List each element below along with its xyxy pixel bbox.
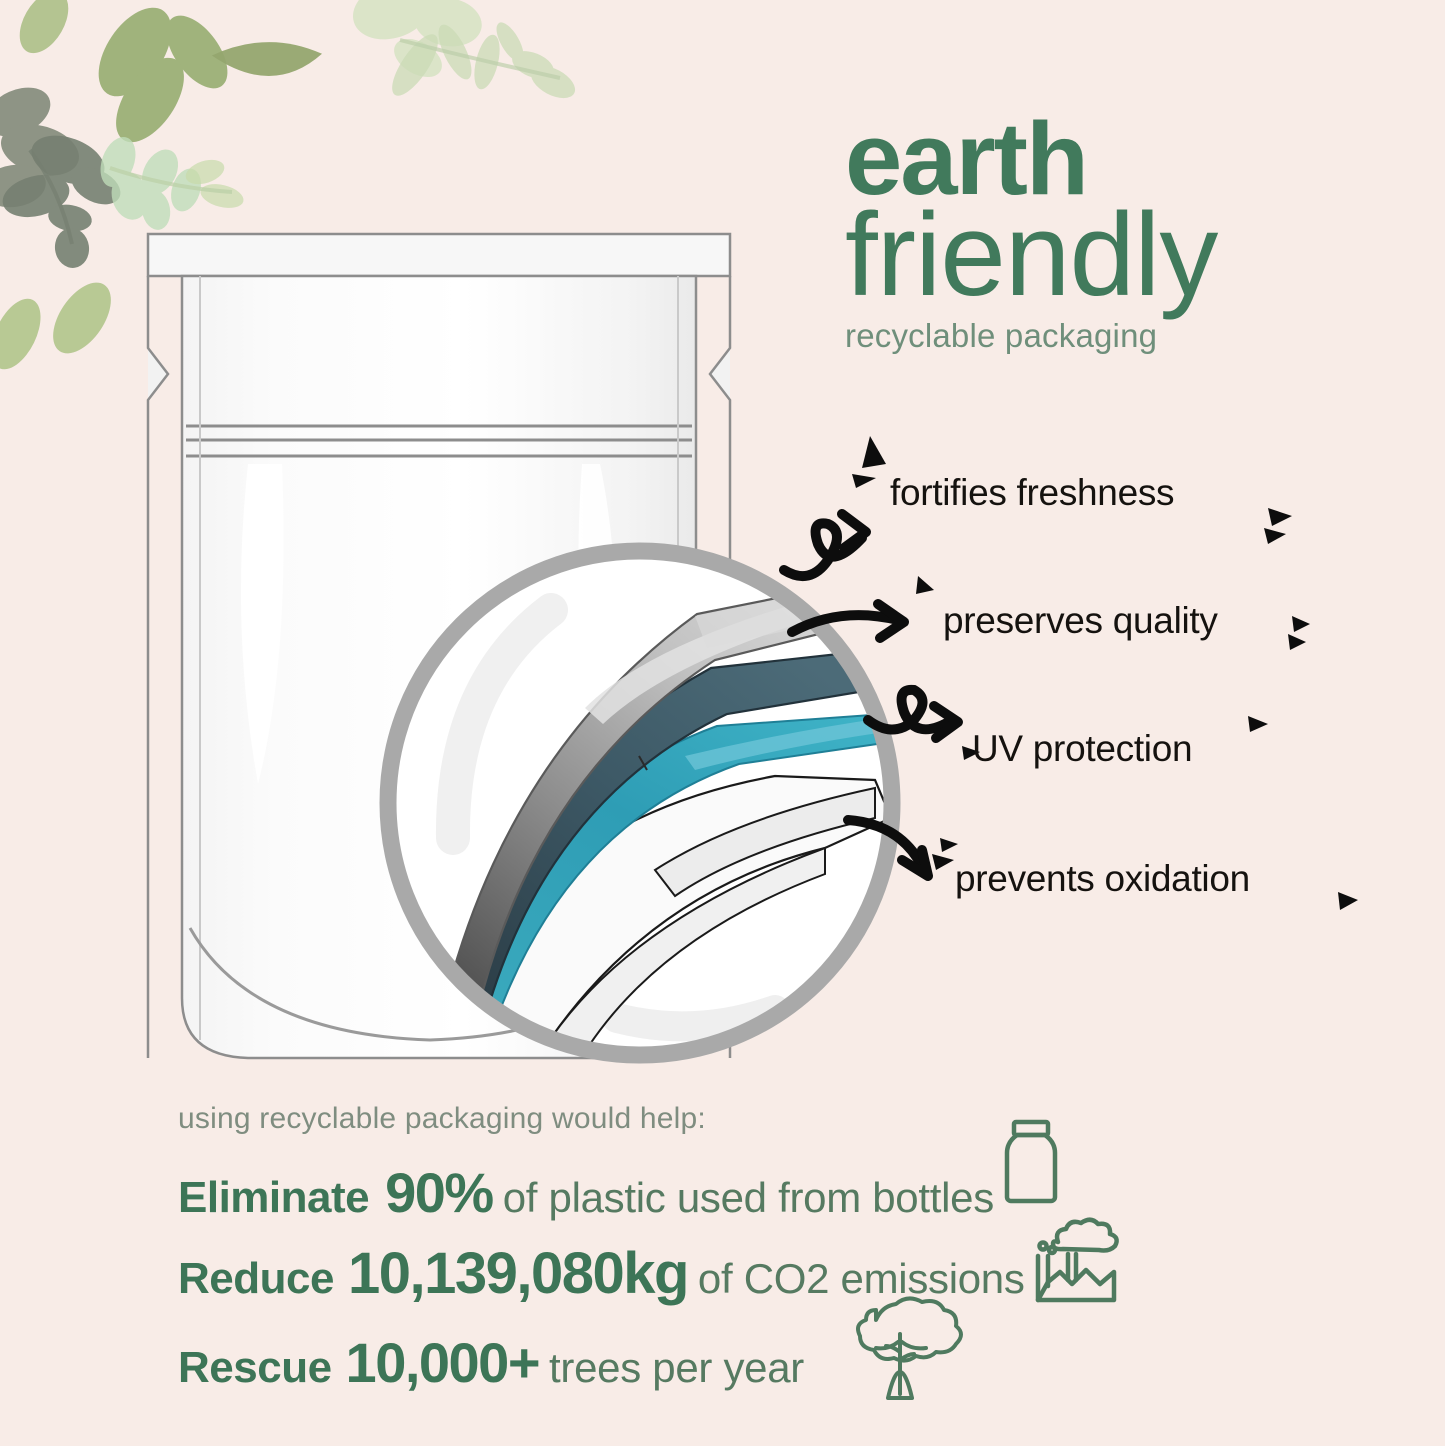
bottle-icon xyxy=(995,1118,1067,1210)
stats-intro-text: using recyclable packaging would help: xyxy=(178,1102,706,1136)
stat-verb: Reduce xyxy=(178,1254,334,1304)
tree-icon xyxy=(836,1292,964,1410)
stat-row-eliminate: Eliminate 90% of plastic used from bottl… xyxy=(178,1160,994,1225)
stat-value: 10,139,080kg xyxy=(348,1240,688,1307)
stat-value: 90% xyxy=(385,1160,493,1225)
title-block: earth friendly recyclable packaging xyxy=(845,112,1365,355)
stat-row-rescue: Rescue 10,000+ trees per year xyxy=(178,1330,804,1395)
infographic-canvas: earth friendly recyclable packaging fort… xyxy=(0,0,1445,1446)
feature-label-preserves-quality: preserves quality xyxy=(943,600,1218,642)
feature-label-uv-protection: UV protection xyxy=(972,728,1192,770)
factory-icon xyxy=(1022,1212,1122,1304)
page-title-line2: friendly xyxy=(845,201,1365,310)
stat-tail: of plastic used from bottles xyxy=(503,1174,994,1222)
stat-tail: trees per year xyxy=(549,1344,804,1392)
stat-verb: Rescue xyxy=(178,1343,332,1393)
page-subtitle: recyclable packaging xyxy=(845,317,1365,355)
feature-label-prevents-oxidation: prevents oxidation xyxy=(955,858,1250,900)
stat-verb: Eliminate xyxy=(178,1173,369,1223)
feature-label-fortifies-freshness: fortifies freshness xyxy=(890,472,1174,514)
stat-value: 10,000+ xyxy=(346,1330,539,1395)
